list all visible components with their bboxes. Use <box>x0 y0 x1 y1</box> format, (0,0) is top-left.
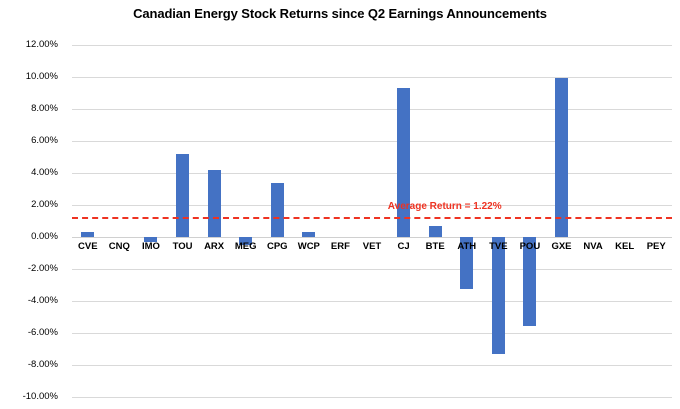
y-axis-tick: 4.00% <box>0 167 58 178</box>
bar <box>429 226 442 237</box>
gridline <box>72 109 672 110</box>
bar <box>397 88 410 237</box>
bar <box>176 154 189 237</box>
bar <box>492 237 505 354</box>
gridline <box>72 205 672 206</box>
y-axis-tick: 6.00% <box>0 135 58 146</box>
gridline <box>72 301 672 302</box>
bar <box>302 232 315 237</box>
bar <box>555 78 568 237</box>
gridline <box>72 333 672 334</box>
y-axis-tick: 2.00% <box>0 199 58 210</box>
bar <box>208 170 221 237</box>
y-axis-tick: -4.00% <box>0 295 58 306</box>
y-axis-tick: 12.00% <box>0 39 58 50</box>
average-return-line <box>72 217 672 219</box>
y-axis-tick: 0.00% <box>0 231 58 242</box>
bar <box>81 232 94 237</box>
plot-area: 12.00%10.00%8.00%6.00%4.00%2.00%0.00%-2.… <box>72 45 672 397</box>
gridline <box>72 237 672 238</box>
gridline <box>72 45 672 46</box>
gridline <box>72 397 672 398</box>
chart-container: Canadian Energy Stock Returns since Q2 E… <box>0 0 680 409</box>
y-axis-tick: -10.00% <box>0 391 58 402</box>
y-axis-tick: -2.00% <box>0 263 58 274</box>
gridline <box>72 173 672 174</box>
y-axis-tick: -8.00% <box>0 359 58 370</box>
gridline <box>72 365 672 366</box>
y-axis-tick: 8.00% <box>0 103 58 114</box>
average-return-label: Average Return = 1.22% <box>388 201 502 212</box>
y-axis-tick: 10.00% <box>0 71 58 82</box>
gridline <box>72 269 672 270</box>
gridline <box>72 77 672 78</box>
x-axis-tick: PEY <box>636 241 676 252</box>
gridline <box>72 141 672 142</box>
y-axis-tick: -6.00% <box>0 327 58 338</box>
chart-title: Canadian Energy Stock Returns since Q2 E… <box>0 6 680 21</box>
bar <box>271 183 284 237</box>
